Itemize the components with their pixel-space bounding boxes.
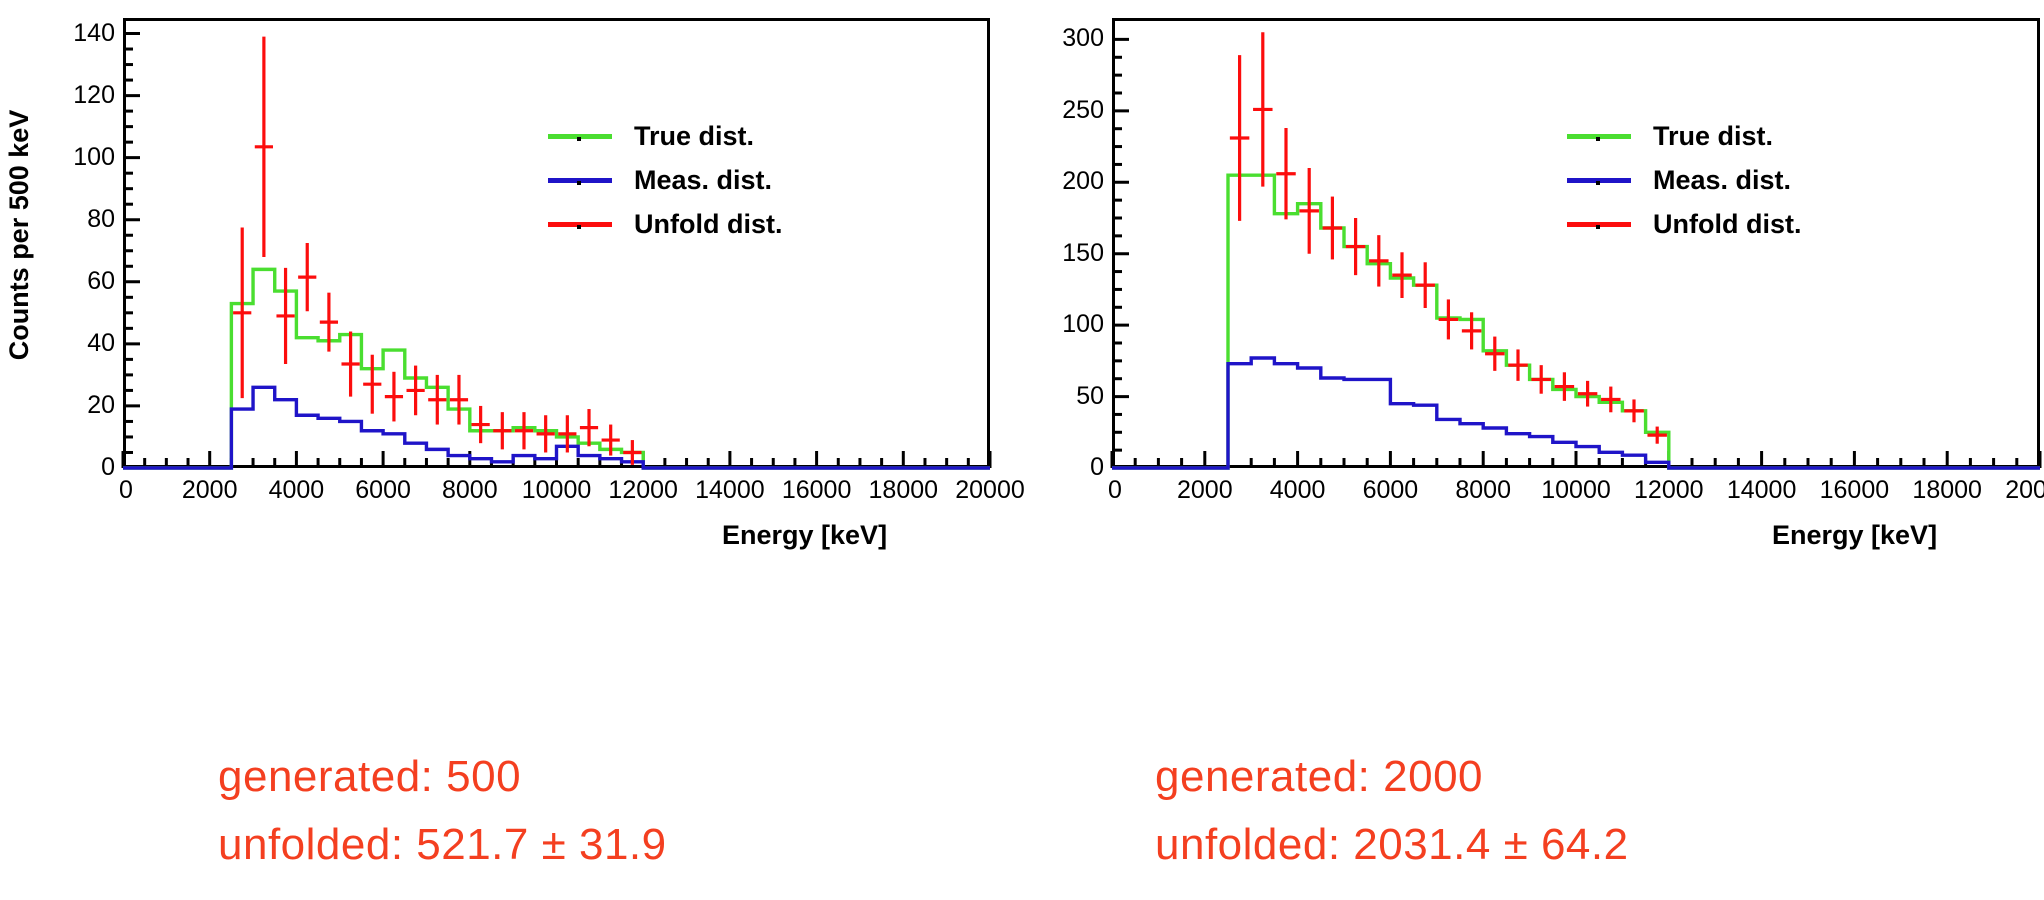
legend-label: True dist. (1653, 121, 1773, 152)
legend-left: True dist.Meas. dist.Unfold dist. (548, 114, 782, 246)
y-tick-40: 40 (31, 329, 115, 358)
legend-marker-dot-icon (1596, 137, 1600, 141)
legend-swatch-line-icon (1567, 178, 1631, 183)
y-tick-0: 0 (31, 453, 115, 482)
y-tick-120: 120 (31, 81, 115, 110)
y-tick-100: 100 (31, 143, 115, 172)
legend-marker-dot-icon (577, 225, 581, 229)
legend-item-unfold-dist[interactable]: Unfold dist. (1567, 202, 1801, 246)
legend-right: True dist.Meas. dist.Unfold dist. (1567, 114, 1801, 246)
annotation-unfolded-left: unfolded: 521.7 ± 31.9 (218, 820, 667, 870)
legend-marker-dot-icon (577, 137, 581, 141)
y-tick-300: 300 (1020, 24, 1104, 53)
legend-label: Meas. dist. (634, 165, 772, 196)
legend-swatch-line-icon (548, 178, 612, 183)
legend-item-meas-dist[interactable]: Meas. dist. (1567, 158, 1801, 202)
legend-label: Meas. dist. (1653, 165, 1791, 196)
legend-item-true-dist[interactable]: True dist. (548, 114, 782, 158)
y-tick-20: 20 (31, 391, 115, 420)
y-tick-80: 80 (31, 205, 115, 234)
annotation-generated-right: generated: 2000 (1155, 752, 1483, 802)
figure-root: Counts per 500 keV 020406080100120140 02… (0, 0, 2044, 900)
chart-panel-right: 050100150200250300 020004000600080001000… (1022, 0, 2044, 740)
annotation-generated-left: generated: 500 (218, 752, 521, 802)
legend-label: Unfold dist. (634, 209, 782, 240)
annotation-unfolded-right: unfolded: 2031.4 ± 64.2 (1155, 820, 1629, 870)
y-tick-200: 200 (1020, 167, 1104, 196)
legend-marker-dot-icon (1596, 225, 1600, 229)
y-tick-100: 100 (1020, 310, 1104, 339)
legend-swatch-line-icon (1567, 222, 1631, 227)
legend-marker-dot-icon (577, 181, 581, 185)
series-meas-dist- (123, 387, 990, 468)
x-axis-title-left: Energy [keV] (722, 520, 887, 551)
y-tick-50: 50 (1020, 382, 1104, 411)
y-tick-250: 250 (1020, 96, 1104, 125)
plot-canvas-left (0, 0, 1022, 740)
legend-item-unfold-dist[interactable]: Unfold dist. (548, 202, 782, 246)
x-axis-title-right: Energy [keV] (1772, 520, 1937, 551)
legend-swatch-line-icon (548, 134, 612, 139)
legend-label: Unfold dist. (1653, 209, 1801, 240)
legend-swatch-line-icon (548, 222, 612, 227)
y-tick-0: 0 (1020, 453, 1104, 482)
legend-item-meas-dist[interactable]: Meas. dist. (548, 158, 782, 202)
y-tick-140: 140 (31, 19, 115, 48)
x-tick-20000: 20000 (1965, 476, 2044, 505)
y-tick-150: 150 (1020, 239, 1104, 268)
legend-marker-dot-icon (1596, 181, 1600, 185)
legend-swatch-line-icon (1567, 134, 1631, 139)
chart-panel-left: Counts per 500 keV 020406080100120140 02… (0, 0, 1022, 740)
legend-label: True dist. (634, 121, 754, 152)
y-tick-60: 60 (31, 267, 115, 296)
series-true-dist- (123, 269, 990, 468)
legend-item-true-dist[interactable]: True dist. (1567, 114, 1801, 158)
plot-canvas-right (1022, 0, 2044, 740)
